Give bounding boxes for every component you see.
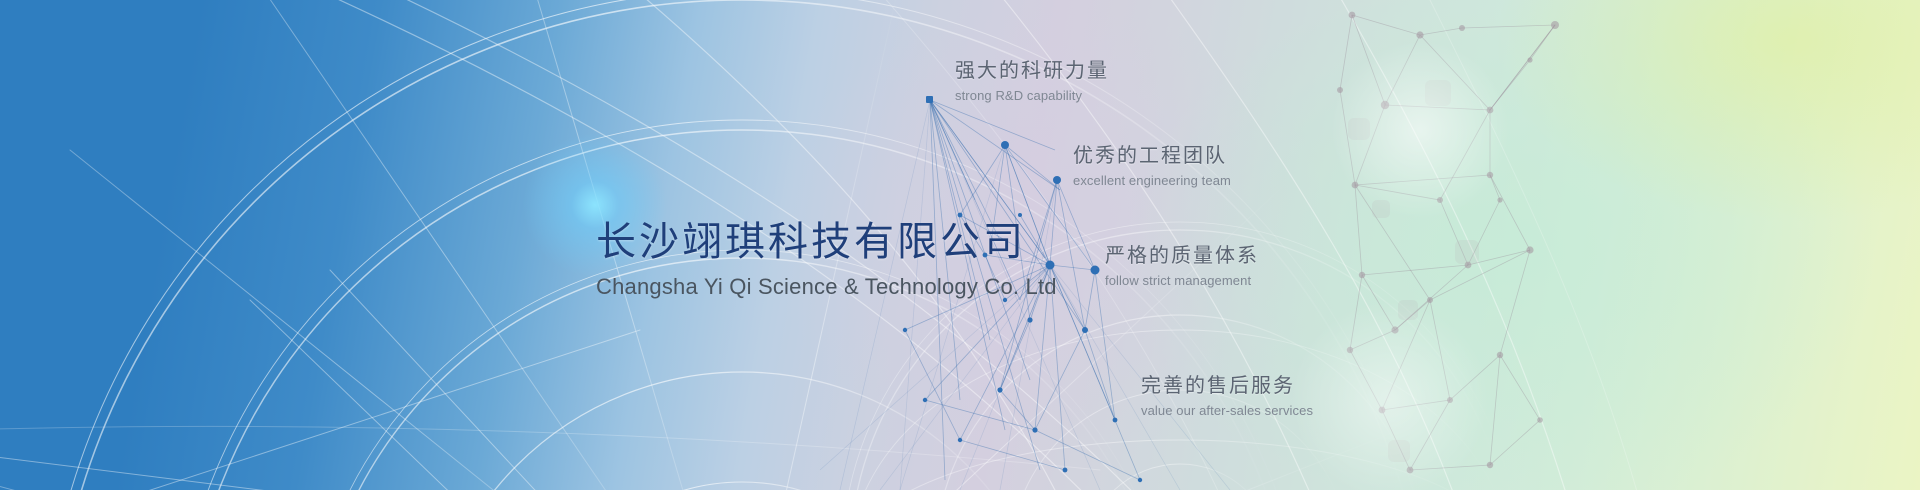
company-banner: 长沙翊琪科技有限公司 Changsha Yi Qi Science & Tech… [0,0,1920,490]
feature-label-team-chinese: 优秀的工程团队 [1073,139,1231,168]
feature-label-service-english: value our after-sales services [1141,403,1313,418]
company-title-block: 长沙翊琪科技有限公司 Changsha Yi Qi Science & Tech… [596,218,1016,300]
feature-label-team-english: excellent engineering team [1073,173,1231,188]
feature-label-service: 完善的售后服务 value our after-sales services [1141,369,1313,418]
feature-label-quality: 严格的质量体系 follow strict management [1105,239,1259,288]
feature-label-rd: 强大的科研力量 strong R&D capability [955,54,1109,103]
feature-label-rd-english: strong R&D capability [955,88,1109,103]
feature-label-service-chinese: 完善的售后服务 [1141,369,1313,398]
company-title-chinese: 长沙翊琪科技有限公司 [596,218,1016,267]
company-title-english: Changsha Yi Qi Science & Technology Co. … [596,274,1016,300]
feature-label-quality-chinese: 严格的质量体系 [1105,239,1259,268]
feature-label-team: 优秀的工程团队 excellent engineering team [1073,139,1231,188]
feature-label-quality-english: follow strict management [1105,273,1259,288]
feature-label-rd-chinese: 强大的科研力量 [955,54,1109,83]
